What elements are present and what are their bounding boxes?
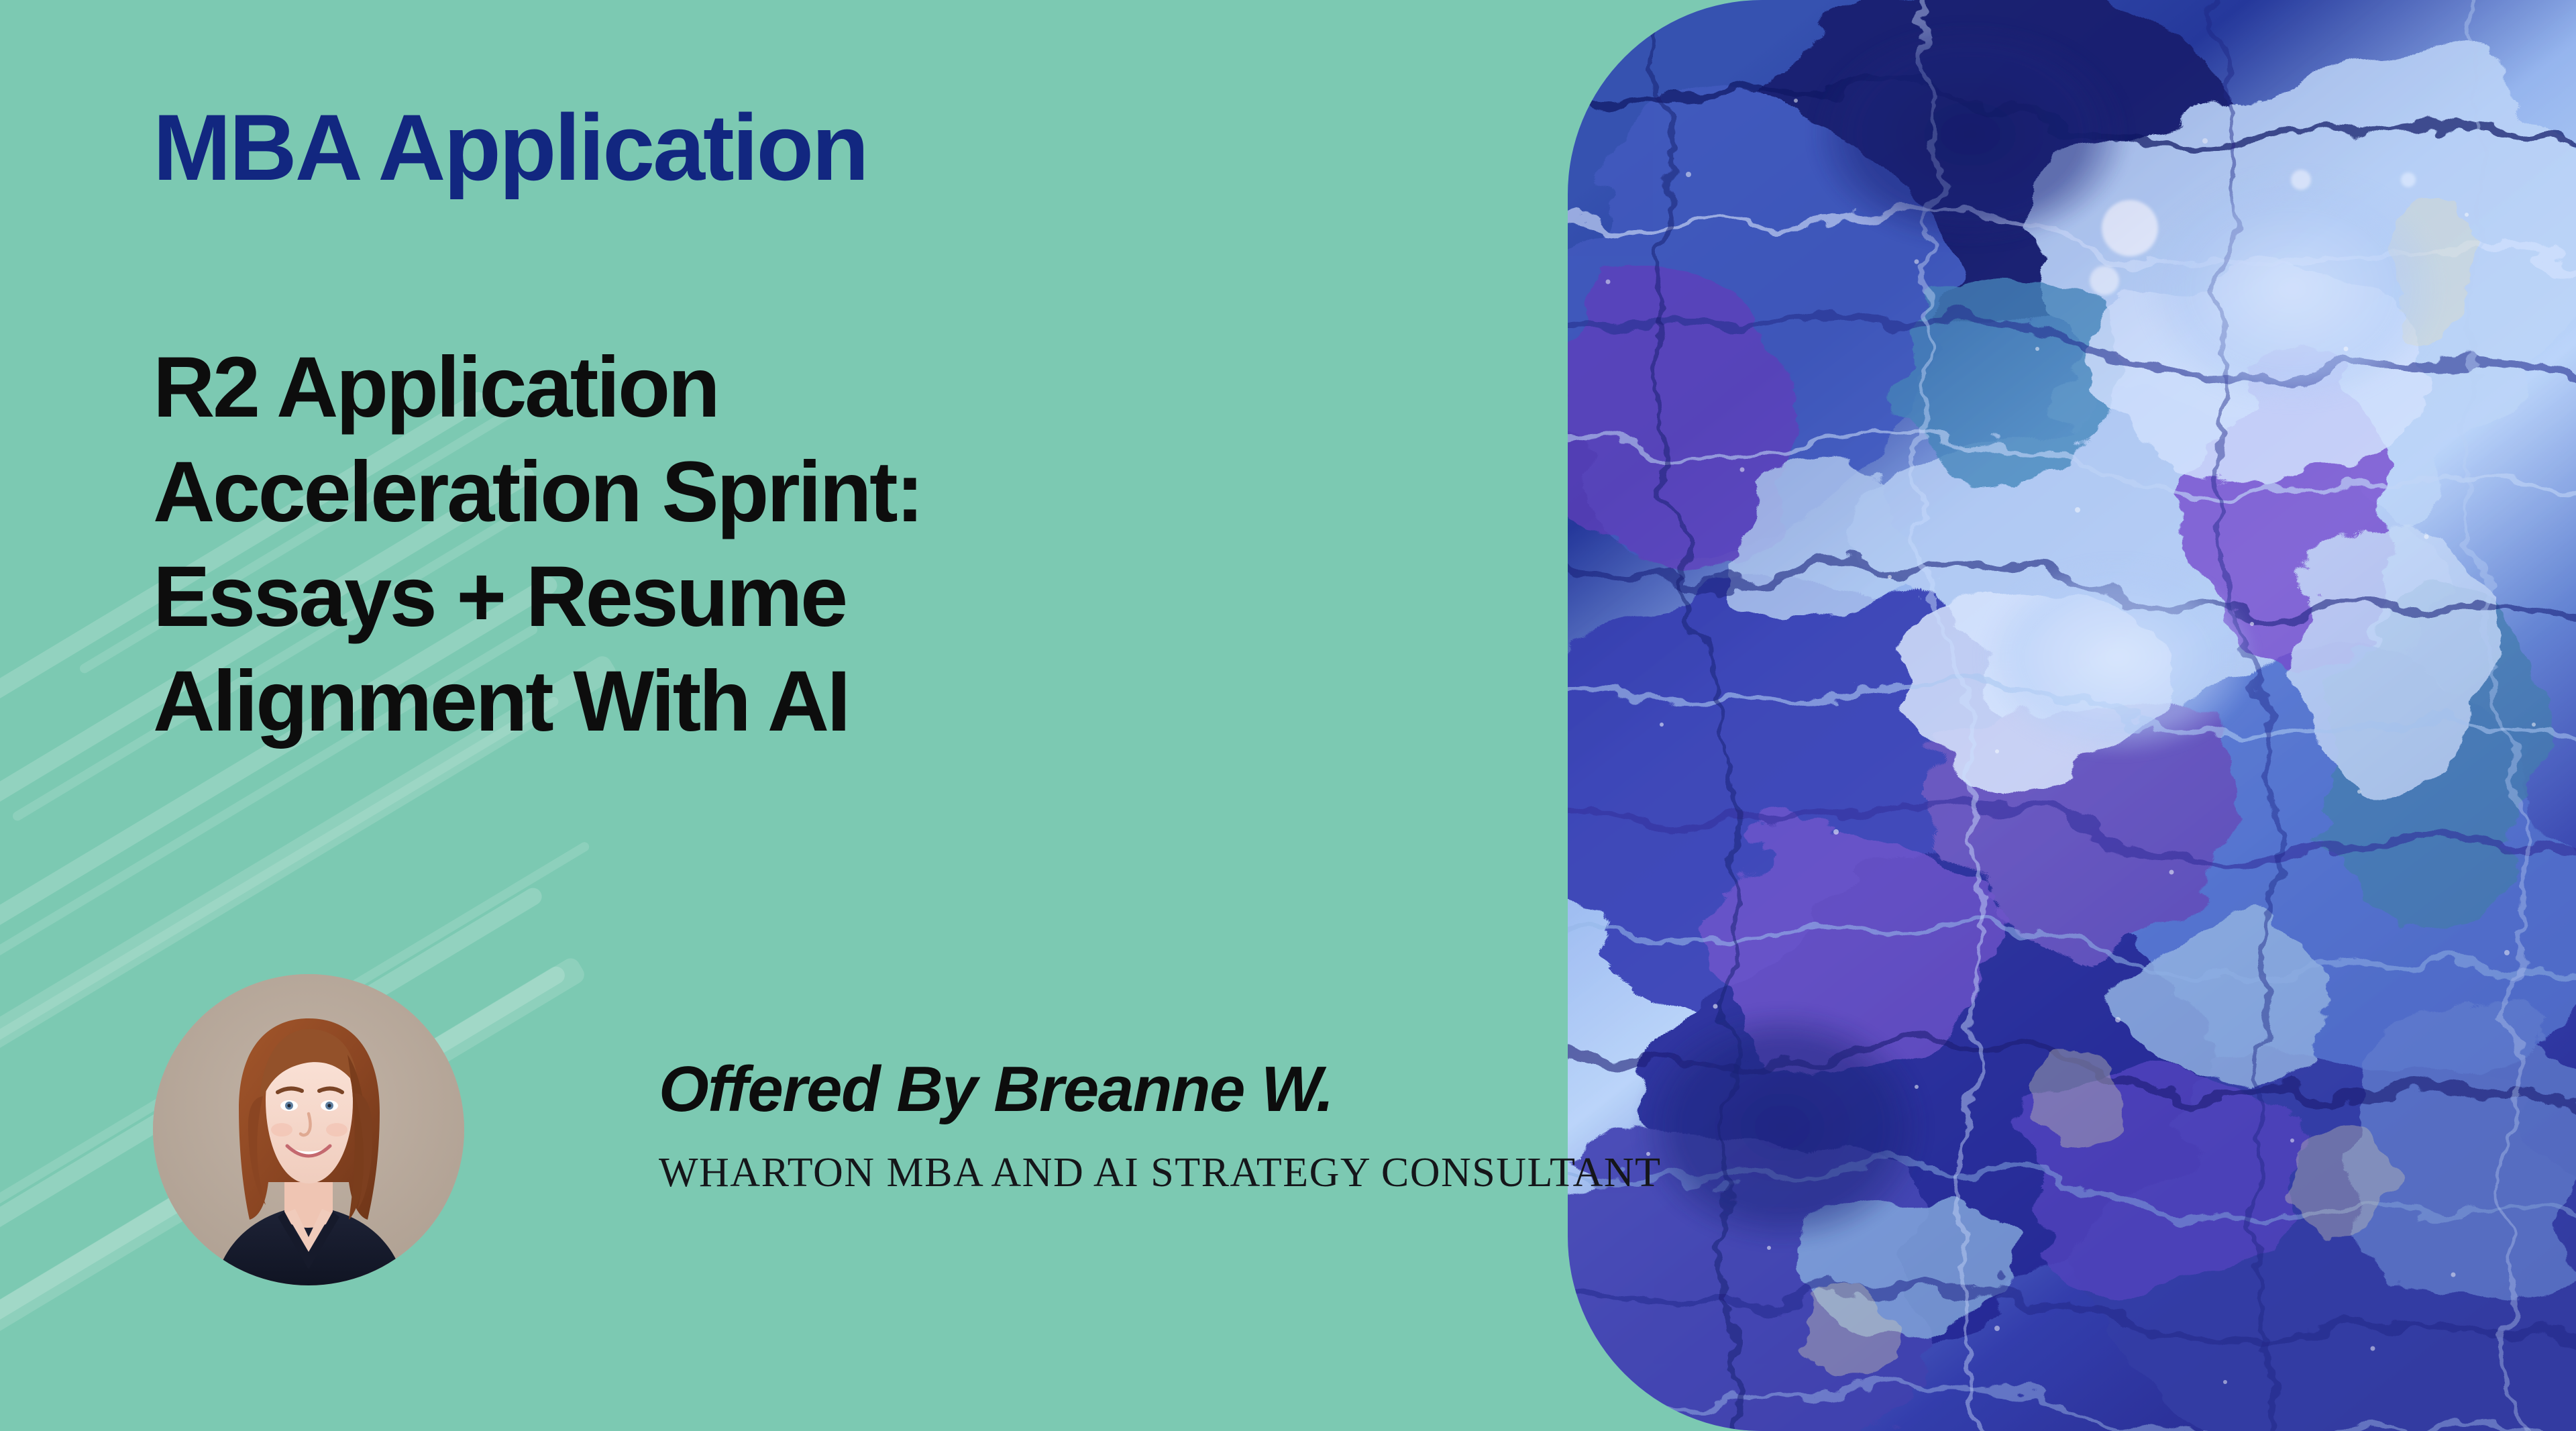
eyebrow-label: MBA Application — [153, 101, 867, 195]
avatar — [153, 974, 464, 1285]
headline-line-3: Essays + Resume — [153, 545, 1468, 649]
headline-line-4: Alignment With AI — [153, 649, 1468, 754]
presenter-role-label: WHARTON MBA AND AI STRATEGY CONSULTANT — [659, 1149, 1662, 1197]
headline-line-1: R2 Application — [153, 335, 1468, 440]
page-title: R2 Application Acceleration Sprint: Essa… — [153, 335, 1468, 755]
offered-by-label: Offered By Breanne W. — [659, 1056, 1662, 1124]
presenter-text: Offered By Breanne W. WHARTON MBA AND AI… — [659, 1056, 1662, 1204]
promo-card: MBA Application R2 Application Accelerat… — [0, 0, 2576, 1431]
content-column: MBA Application R2 Application Accelerat… — [153, 0, 1508, 1431]
presenter-block: Offered By Breanne W. WHARTON MBA AND AI… — [153, 974, 1662, 1285]
marble-artwork-panel — [1568, 0, 2576, 1431]
headline-line-2: Acceleration Sprint: — [153, 440, 1468, 545]
